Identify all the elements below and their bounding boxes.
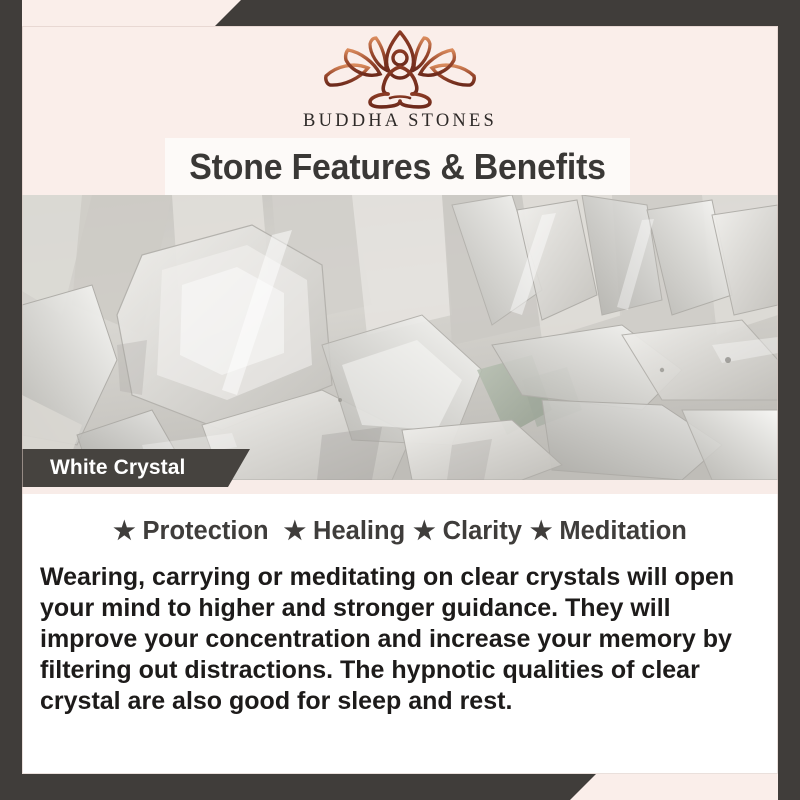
star-icon: ★: [413, 519, 435, 544]
frame-edge-right: [778, 0, 800, 800]
benefit-label: Meditation: [559, 517, 687, 546]
description-paragraph: Wearing, carrying or meditating on clear…: [40, 562, 760, 717]
brand-wordmark: BUDDHA STONES: [303, 111, 497, 132]
page-title: Stone Features & Benefits: [189, 146, 606, 188]
benefit-item-meditation: ★ Meditation: [530, 517, 687, 546]
photo-caption-label: White Crystal: [22, 456, 186, 480]
star-icon: ★: [530, 519, 552, 544]
benefit-item-clarity: ★ Clarity: [413, 517, 522, 546]
star-icon: ★: [284, 519, 306, 544]
benefit-label: Healing: [313, 517, 405, 546]
benefit-label: Protection: [143, 517, 269, 546]
infographic-poster: BUDDHA STONES Stone Features & Benefits: [0, 0, 800, 800]
benefit-label: Clarity: [443, 517, 522, 546]
content-area: ★ Protection ★ Healing ★ Clarity ★ Medit…: [22, 494, 778, 774]
lotus-meditation-icon: [318, 28, 482, 110]
frame-edge-left: [0, 0, 22, 800]
benefit-item-healing: ★ Healing: [284, 517, 406, 546]
benefits-list: ★ Protection ★ Healing ★ Clarity ★ Medit…: [22, 508, 778, 554]
crystal-photo-illustration: [22, 195, 778, 480]
brand-header: BUDDHA STONES: [22, 26, 778, 138]
photo-caption-banner: White Crystal: [22, 449, 250, 487]
frame-corner-bottom-left: [0, 774, 596, 800]
frame-corner-top-right: [215, 0, 800, 26]
star-icon: ★: [113, 519, 135, 544]
crystal-photo: [22, 195, 778, 480]
title-panel: Stone Features & Benefits: [165, 138, 630, 195]
benefit-item-protection: ★ Protection: [113, 517, 269, 546]
